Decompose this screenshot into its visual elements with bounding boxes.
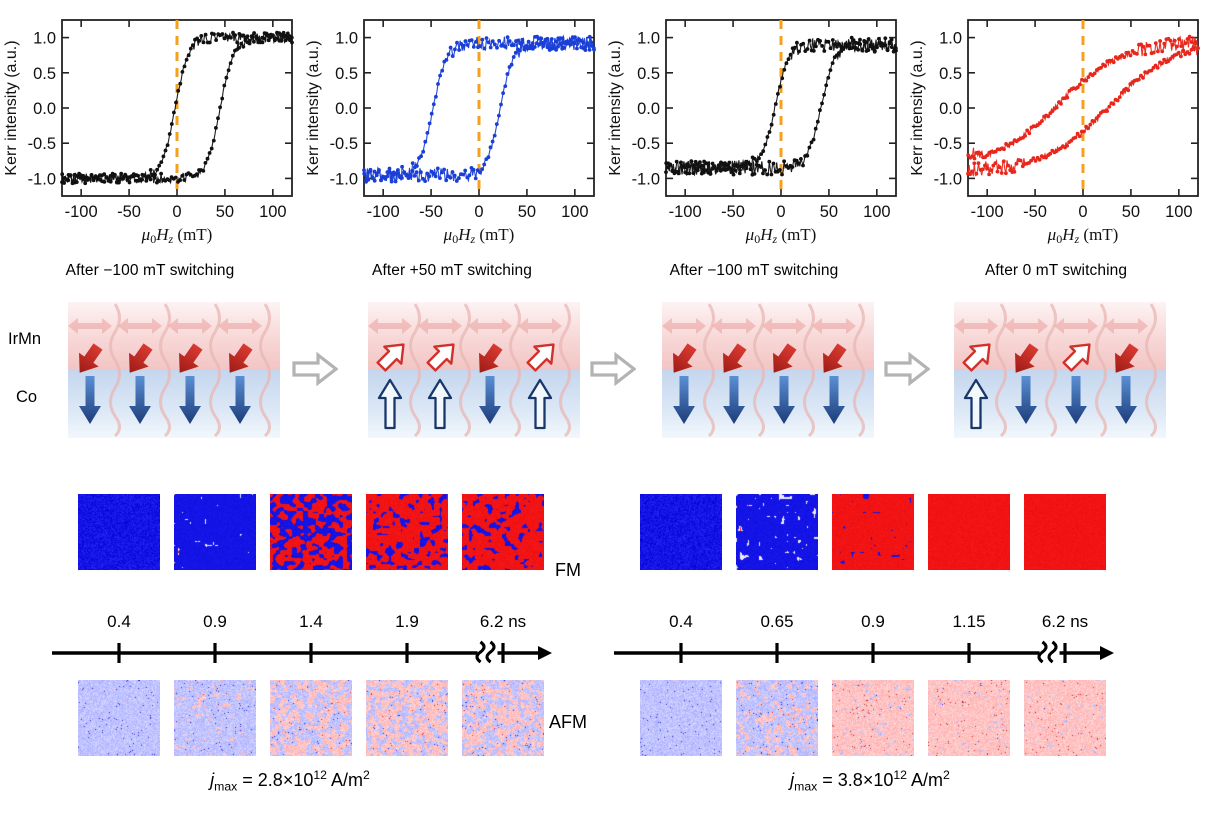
time-label: 0.4 — [628, 612, 734, 632]
jmax-unit-exp-right: 2 — [943, 768, 950, 782]
svg-text:0: 0 — [1078, 203, 1087, 221]
fm-snapshot — [736, 494, 818, 570]
time-label: 0.9 — [820, 612, 926, 632]
jmax-caption-left: jmax = 2.8×1012 A/m2 — [60, 768, 520, 794]
svg-text:-50: -50 — [1023, 203, 1047, 221]
svg-text:Kerr intensity (a.u.): Kerr intensity (a.u.) — [3, 40, 20, 175]
svg-text:-1.0: -1.0 — [330, 170, 358, 188]
jmax-unit-left: A/m — [331, 770, 363, 790]
fm-snapshot — [1024, 494, 1106, 570]
state-caption-1: After −100 mT switching — [0, 262, 300, 280]
jmax-exp-left: 12 — [313, 768, 327, 782]
jmax-unit-right: A/m — [911, 770, 943, 790]
svg-text:-100: -100 — [367, 203, 400, 221]
svg-text:-0.5: -0.5 — [632, 135, 660, 153]
jmax-unit-exp-left: 2 — [363, 768, 370, 782]
jmax-sub-left: max — [214, 780, 237, 794]
svg-text:μ0Hz (mT): μ0Hz (mT) — [1047, 225, 1119, 246]
spin-panel-2 — [368, 302, 580, 438]
svg-text:-1.0: -1.0 — [934, 170, 962, 188]
svg-text:100: 100 — [259, 203, 287, 221]
time-label: 1.4 — [258, 612, 364, 632]
time-label: 6.2 ns — [450, 612, 556, 632]
fm-snapshot — [462, 494, 544, 570]
svg-text:0.5: 0.5 — [33, 65, 56, 83]
svg-text:-50: -50 — [117, 203, 141, 221]
afm-snapshot — [736, 680, 818, 756]
fm-snapshot — [366, 494, 448, 570]
svg-text:1.0: 1.0 — [637, 30, 660, 48]
svg-text:-100: -100 — [971, 203, 1004, 221]
svg-text:-100: -100 — [65, 203, 98, 221]
svg-text:μ0Hz (mT): μ0Hz (mT) — [443, 225, 515, 246]
afm-snapshot — [270, 680, 352, 756]
fm-snapshot — [640, 494, 722, 570]
connector-arrow-3 — [884, 352, 930, 386]
svg-text:-1.0: -1.0 — [632, 170, 660, 188]
svg-text:μ0Hz (mT): μ0Hz (mT) — [745, 225, 817, 246]
jmax-sub-right: max — [794, 780, 817, 794]
svg-text:0.5: 0.5 — [637, 65, 660, 83]
spin-panel-1 — [68, 302, 280, 438]
fm-snapshot — [928, 494, 1010, 570]
svg-text:-100: -100 — [669, 203, 702, 221]
svg-text:0.5: 0.5 — [939, 65, 962, 83]
svg-text:-50: -50 — [721, 203, 745, 221]
kerr-plot-panel-1: -100-50050100-1.0-0.50.00.51.0 μ0Hz (mT)… — [0, 0, 304, 250]
svg-text:100: 100 — [561, 203, 589, 221]
state-caption-4: After 0 mT switching — [906, 262, 1206, 280]
state-caption-2: After +50 mT switching — [302, 262, 602, 280]
layer-label-irmn: IrMn — [8, 330, 41, 349]
afm-snapshot — [78, 680, 160, 756]
kerr-plot-panel-3: -100-50050100-1.0-0.50.00.51.0 μ0Hz (mT)… — [604, 0, 908, 250]
kerr-plot-panel-4: -100-50050100-1.0-0.50.00.51.0 μ0Hz (mT)… — [906, 0, 1210, 250]
svg-text:50: 50 — [820, 203, 838, 221]
svg-text:Kerr intensity (a.u.): Kerr intensity (a.u.) — [909, 40, 926, 175]
svg-text:0.0: 0.0 — [637, 100, 660, 118]
svg-text:100: 100 — [1165, 203, 1193, 221]
jmax-value-left: 2.8 — [258, 770, 283, 790]
svg-text:1.0: 1.0 — [33, 30, 56, 48]
svg-text:μ0Hz (mT): μ0Hz (mT) — [141, 225, 213, 246]
svg-text:-0.5: -0.5 — [28, 135, 56, 153]
jmax-caption-right: jmax = 3.8×1012 A/m2 — [640, 768, 1100, 794]
afm-snapshot — [1024, 680, 1106, 756]
svg-text:100: 100 — [863, 203, 891, 221]
time-label: 0.4 — [66, 612, 172, 632]
svg-text:Kerr intensity (a.u.): Kerr intensity (a.u.) — [607, 40, 624, 175]
afm-snapshot — [174, 680, 256, 756]
svg-text:-1.0: -1.0 — [28, 170, 56, 188]
svg-text:0: 0 — [474, 203, 483, 221]
svg-text:0.0: 0.0 — [335, 100, 358, 118]
svg-text:0.0: 0.0 — [33, 100, 56, 118]
svg-text:-0.5: -0.5 — [934, 135, 962, 153]
spin-panel-3 — [662, 302, 874, 438]
fm-snapshot — [832, 494, 914, 570]
time-label: 0.65 — [724, 612, 830, 632]
svg-text:1.0: 1.0 — [939, 30, 962, 48]
svg-text:0: 0 — [776, 203, 785, 221]
time-label: 6.2 ns — [1012, 612, 1118, 632]
svg-text:0.0: 0.0 — [939, 100, 962, 118]
connector-arrow-2 — [590, 352, 636, 386]
time-label: 1.9 — [354, 612, 460, 632]
kerr-plot-panel-2: -100-50050100-1.0-0.50.00.51.0 μ0Hz (mT)… — [302, 0, 606, 250]
svg-text:Kerr intensity (a.u.): Kerr intensity (a.u.) — [305, 40, 322, 175]
afm-snapshot — [640, 680, 722, 756]
time-axis — [614, 640, 1114, 670]
svg-text:50: 50 — [216, 203, 234, 221]
svg-text:50: 50 — [518, 203, 536, 221]
afm-snapshot — [462, 680, 544, 756]
spin-panel-4 — [954, 302, 1166, 438]
connector-arrow-1 — [292, 352, 338, 386]
layer-label-co: Co — [16, 388, 37, 407]
figure-root: -100-50050100-1.0-0.50.00.51.0 μ0Hz (mT)… — [0, 0, 1216, 814]
afm-snapshot — [366, 680, 448, 756]
jmax-value-right: 3.8 — [838, 770, 863, 790]
time-label: 1.15 — [916, 612, 1022, 632]
row-label-afm: AFM — [549, 712, 587, 733]
jmax-exp-right: 12 — [893, 768, 907, 782]
afm-snapshot — [928, 680, 1010, 756]
svg-text:0: 0 — [172, 203, 181, 221]
svg-text:0.5: 0.5 — [335, 65, 358, 83]
fm-snapshot — [78, 494, 160, 570]
svg-text:-50: -50 — [419, 203, 443, 221]
fm-snapshot — [174, 494, 256, 570]
afm-snapshot — [832, 680, 914, 756]
time-axis — [52, 640, 552, 670]
state-caption-3: After −100 mT switching — [604, 262, 904, 280]
svg-text:1.0: 1.0 — [335, 30, 358, 48]
time-label: 0.9 — [162, 612, 268, 632]
fm-snapshot — [270, 494, 352, 570]
svg-text:-0.5: -0.5 — [330, 135, 358, 153]
row-label-fm: FM — [555, 560, 581, 581]
svg-text:50: 50 — [1122, 203, 1140, 221]
